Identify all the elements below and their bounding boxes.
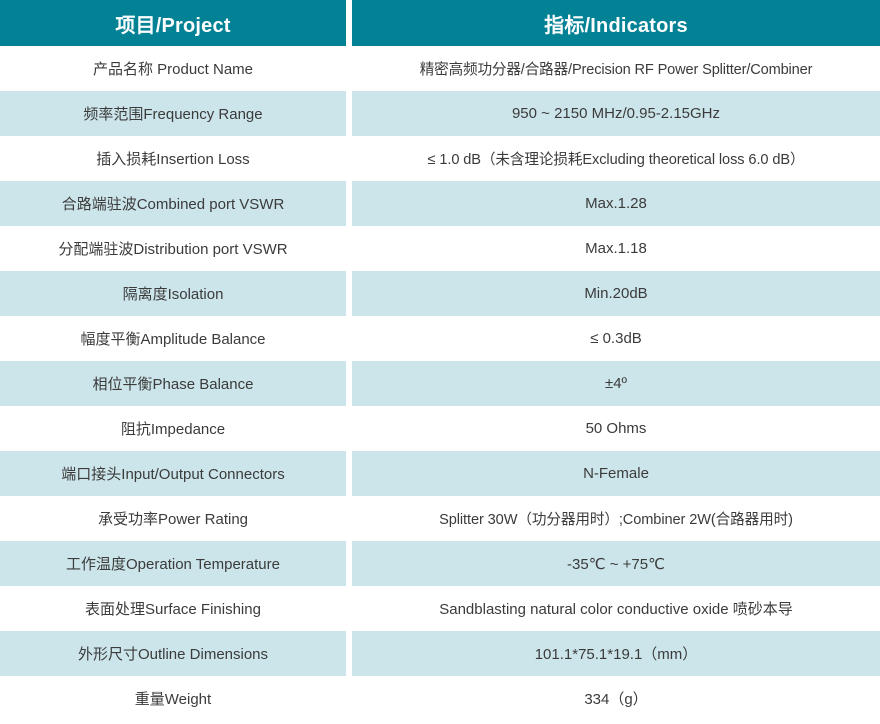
cell-project-insertion-loss: 插入损耗Insertion Loss: [0, 136, 346, 181]
table-header: 项目/Project 指标/Indicators: [0, 0, 880, 46]
table-row: 相位平衡Phase Balance±4º: [0, 361, 880, 406]
cell-indicator-impedance: 50 Ohms: [352, 406, 880, 451]
table-header-row: 项目/Project 指标/Indicators: [0, 0, 880, 46]
column-header-project: 项目/Project: [0, 0, 346, 46]
cell-indicator-amplitude-balance: ≤ 0.3dB: [352, 316, 880, 361]
cell-indicator-phase-balance: ±4º: [352, 361, 880, 406]
table-row: 端口接头Input/Output ConnectorsN-Female: [0, 451, 880, 496]
cell-project-frequency-range: 频率范围Frequency Range: [0, 91, 346, 136]
cell-indicator-combined-port-vswr: Max.1.28: [352, 181, 880, 226]
cell-project-operation-temperature: 工作温度Operation Temperature: [0, 541, 346, 586]
table-row: 外形尺寸Outline Dimensions101.1*75.1*19.1（mm…: [0, 631, 880, 676]
cell-indicator-insertion-loss: ≤ 1.0 dB（未含理论损耗Excluding theoretical los…: [352, 136, 880, 181]
cell-project-amplitude-balance: 幅度平衡Amplitude Balance: [0, 316, 346, 361]
table-row: 工作温度Operation Temperature-35℃ ~ +75℃: [0, 541, 880, 586]
cell-project-distribution-port-vswr: 分配端驻波Distribution port VSWR: [0, 226, 346, 271]
cell-indicator-power-rating: Splitter 30W（功分器用时）;Combiner 2W(合路器用时): [352, 496, 880, 541]
specification-table: 项目/Project 指标/Indicators 产品名称 Product Na…: [0, 0, 880, 721]
table-row: 承受功率Power RatingSplitter 30W（功分器用时）;Comb…: [0, 496, 880, 541]
cell-indicator-product-name: 精密高频功分器/合路器/Precision RF Power Splitter/…: [352, 46, 880, 91]
table-row: 分配端驻波Distribution port VSWRMax.1.18: [0, 226, 880, 271]
cell-project-impedance: 阻抗Impedance: [0, 406, 346, 451]
cell-indicator-operation-temperature: -35℃ ~ +75℃: [352, 541, 880, 586]
table-row: 阻抗Impedance50 Ohms: [0, 406, 880, 451]
table-row: 频率范围Frequency Range950 ~ 2150 MHz/0.95-2…: [0, 91, 880, 136]
table-row: 重量Weight334（g）: [0, 676, 880, 721]
cell-project-combined-port-vswr: 合路端驻波Combined port VSWR: [0, 181, 346, 226]
cell-indicator-outline-dimensions: 101.1*75.1*19.1（mm）: [352, 631, 880, 676]
column-header-indicators: 指标/Indicators: [352, 0, 880, 46]
cell-indicator-surface-finishing: Sandblasting natural color conductive ox…: [352, 586, 880, 631]
table-row: 插入损耗Insertion Loss≤ 1.0 dB（未含理论损耗Excludi…: [0, 136, 880, 181]
cell-project-outline-dimensions: 外形尺寸Outline Dimensions: [0, 631, 346, 676]
cell-project-weight: 重量Weight: [0, 676, 346, 721]
cell-project-isolation: 隔离度Isolation: [0, 271, 346, 316]
cell-indicator-connectors: N-Female: [352, 451, 880, 496]
table-body: 产品名称 Product Name精密高频功分器/合路器/Precision R…: [0, 46, 880, 721]
cell-indicator-isolation: Min.20dB: [352, 271, 880, 316]
table-row: 隔离度IsolationMin.20dB: [0, 271, 880, 316]
cell-project-power-rating: 承受功率Power Rating: [0, 496, 346, 541]
cell-indicator-frequency-range: 950 ~ 2150 MHz/0.95-2.15GHz: [352, 91, 880, 136]
table-row: 合路端驻波Combined port VSWRMax.1.28: [0, 181, 880, 226]
cell-project-phase-balance: 相位平衡Phase Balance: [0, 361, 346, 406]
table-row: 表面处理Surface FinishingSandblasting natura…: [0, 586, 880, 631]
cell-project-product-name: 产品名称 Product Name: [0, 46, 346, 91]
cell-indicator-weight: 334（g）: [352, 676, 880, 721]
cell-indicator-distribution-port-vswr: Max.1.18: [352, 226, 880, 271]
cell-project-connectors: 端口接头Input/Output Connectors: [0, 451, 346, 496]
cell-project-surface-finishing: 表面处理Surface Finishing: [0, 586, 346, 631]
table-row: 产品名称 Product Name精密高频功分器/合路器/Precision R…: [0, 46, 880, 91]
table-row: 幅度平衡Amplitude Balance≤ 0.3dB: [0, 316, 880, 361]
